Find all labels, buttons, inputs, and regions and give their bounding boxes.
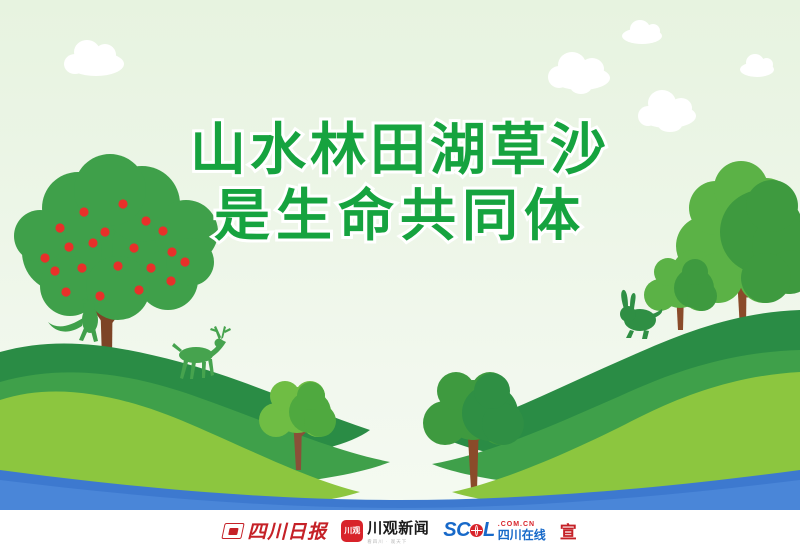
scol-chinese-label: 四川在线 [498, 529, 546, 541]
scol-text-block: .COM.CN 四川在线 [498, 521, 546, 541]
sichuan-daily-logo: 四川日报 [223, 517, 327, 544]
headline-line-2: 是生命共同体 [0, 184, 800, 250]
globe-icon [470, 524, 483, 537]
scol-letters-sc: SC [443, 519, 470, 542]
sichuan-daily-mark-icon [222, 523, 245, 539]
chuanguan-news-logo: 川观 川观新闻 看四川 · 观天下 [341, 517, 429, 545]
chuanguan-news-subtitle: 看四川 · 观天下 [367, 539, 429, 545]
scol-letters-l: L [483, 519, 495, 542]
headline-line-1: 山水林田湖草沙 [0, 118, 800, 184]
xuan-mark: 宣 [560, 518, 577, 543]
scol-logo: SCL .COM.CN 四川在线 [443, 519, 546, 542]
sichuan-daily-label: 四川日报 [247, 517, 327, 544]
chuanguan-text-block: 川观新闻 看四川 · 观天下 [367, 517, 429, 545]
footer-logo-bar: 四川日报 川观 川观新闻 看四川 · 观天下 SCL .COM.CN 四川在线 … [0, 510, 800, 551]
headline: 山水林田湖草沙 是生命共同体 [0, 118, 800, 250]
chuanguan-news-label: 川观新闻 [367, 517, 429, 538]
scol-wordmark: SCL [443, 519, 495, 542]
chuanguan-app-icon: 川观 [341, 520, 363, 542]
poster-canvas: 山水林田湖草沙 是生命共同体 四川日报 川观 川观新闻 看四川 · 观天下 SC… [0, 0, 800, 551]
landscape-illustration [0, 0, 800, 551]
scol-domain: .COM.CN [498, 521, 546, 528]
